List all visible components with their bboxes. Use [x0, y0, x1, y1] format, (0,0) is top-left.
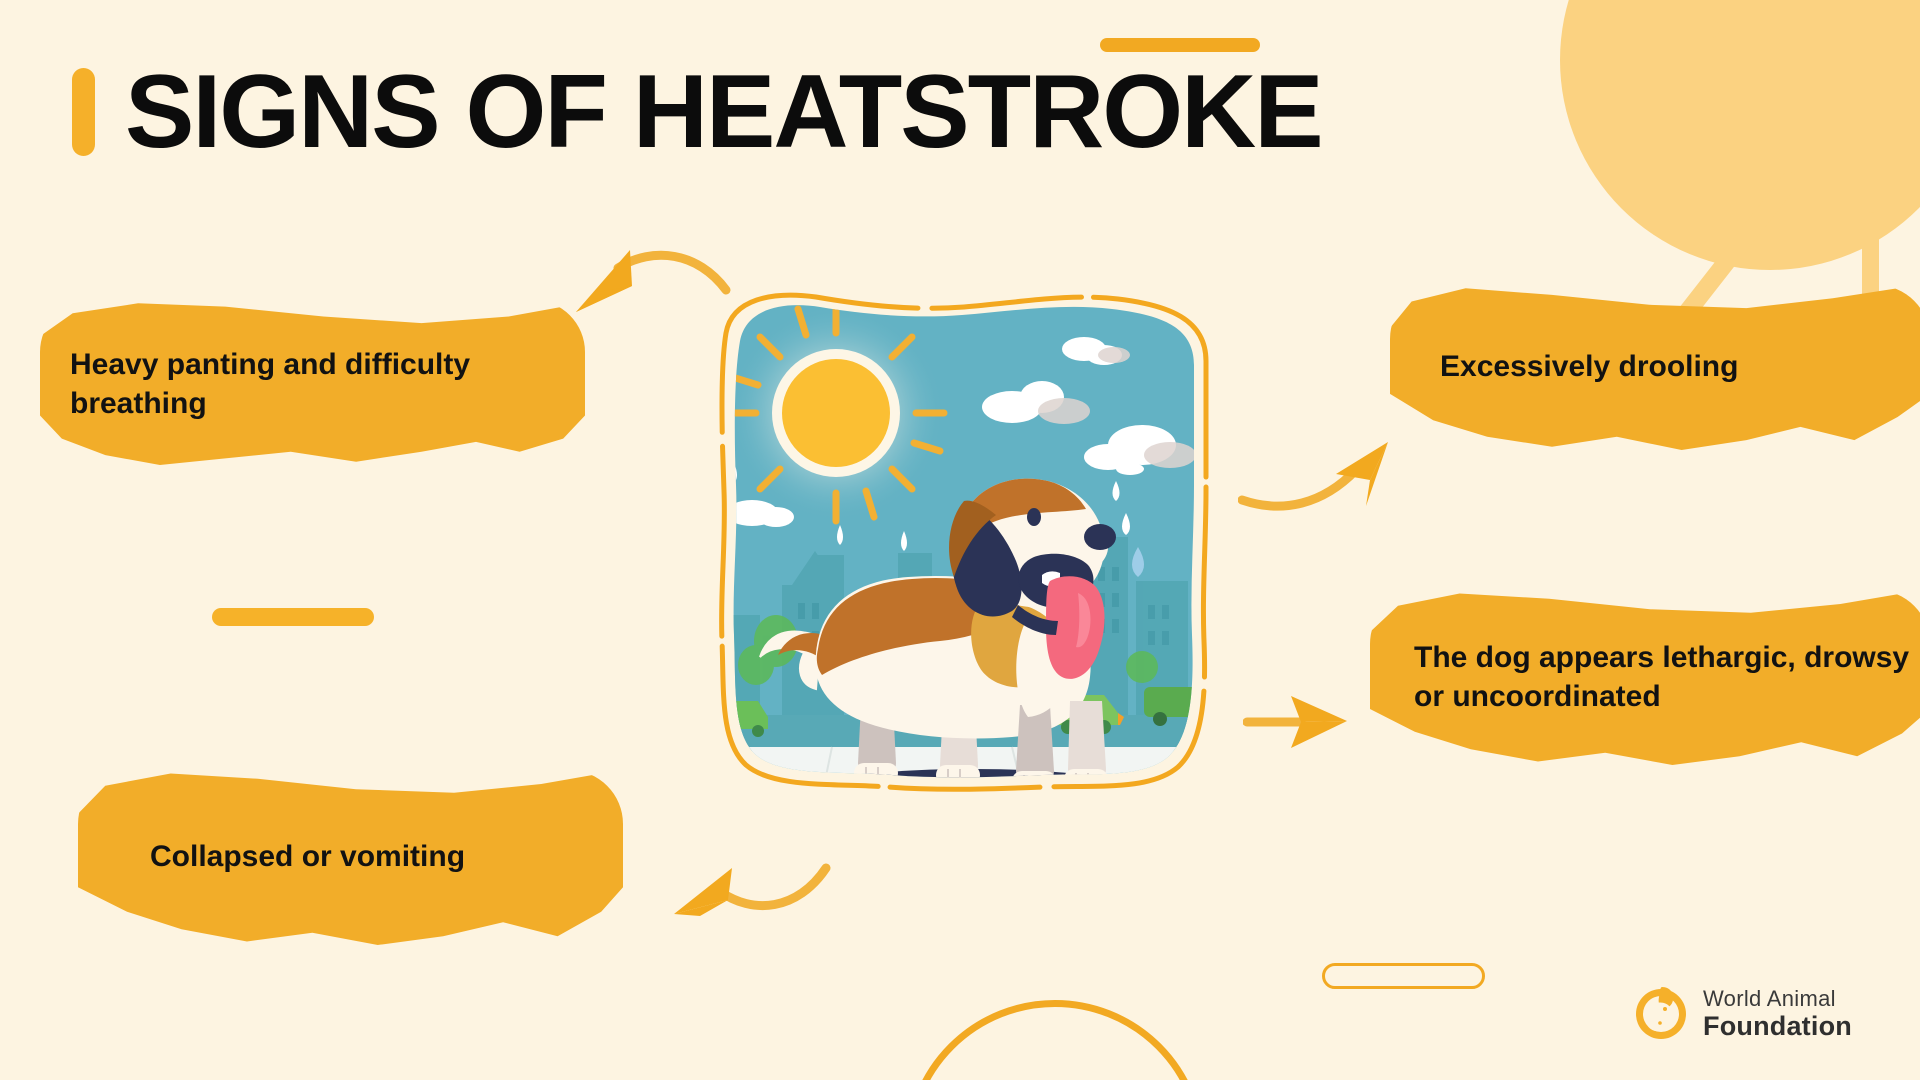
callout-collapsed-vomiting: Collapsed or vomiting: [78, 770, 623, 945]
logo-line-2: Foundation: [1703, 1013, 1852, 1040]
logo-emblem-icon: [1632, 985, 1690, 1043]
pill-decoration-above-title: [1100, 38, 1260, 52]
arrow-to-drooling-icon: [1238, 432, 1418, 522]
arrow-to-collapsed-icon: [648, 838, 838, 938]
arrow-to-lethargic-icon: [1243, 688, 1393, 754]
dog-nose: [1084, 524, 1116, 550]
arc-decoration-bottom: [905, 1000, 1205, 1080]
callout-heavy-panting-label: Heavy panting and difficulty breathing: [40, 342, 585, 423]
sun-disc: [782, 359, 890, 467]
infographic-canvas: SIGNS OF HEATSTROKE Heavy panting and di…: [0, 0, 1920, 1080]
logo-line-1: World Animal: [1703, 988, 1852, 1010]
callout-lethargic: The dog appears lethargic, drowsy or unc…: [1370, 590, 1920, 765]
callout-lethargic-label: The dog appears lethargic, drowsy or unc…: [1370, 639, 1920, 716]
callout-excessively-drooling-label: Excessively drooling: [1390, 348, 1738, 386]
callout-heavy-panting: Heavy panting and difficulty breathing: [40, 300, 585, 465]
pill-decoration-mid-left: [212, 608, 374, 626]
dog-eye: [1027, 508, 1041, 526]
page-title: SIGNS OF HEATSTROKE: [72, 60, 1322, 164]
callout-excessively-drooling: Excessively drooling: [1390, 285, 1920, 450]
illustration-scene: [712, 285, 1220, 805]
arrow-to-heavy-panting-icon: [558, 230, 738, 330]
world-animal-foundation-logo[interactable]: World Animal Foundation: [1632, 985, 1852, 1043]
title-text: SIGNS OF HEATSTROKE: [125, 60, 1322, 164]
title-accent-bar: [72, 68, 95, 156]
callout-collapsed-vomiting-label: Collapsed or vomiting: [78, 838, 465, 876]
illustration-panting-dog: [712, 285, 1220, 805]
pill-decoration-top-right: [1595, 20, 1720, 38]
pill-outline-decoration: [1322, 963, 1485, 989]
